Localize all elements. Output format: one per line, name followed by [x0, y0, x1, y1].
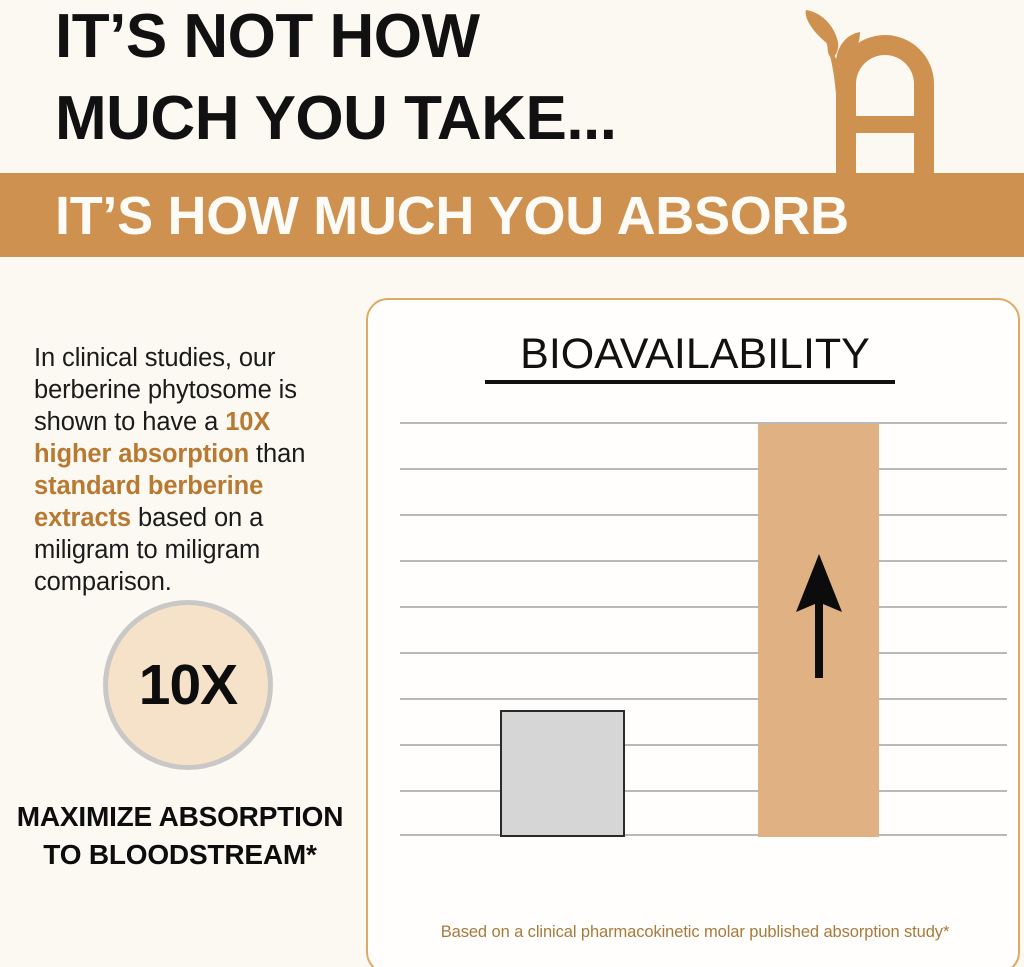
- headline-block: IT’S NOT HOW MUCH YOU TAKE...: [55, 0, 775, 160]
- multiplier-badge: 10X: [103, 600, 273, 770]
- chart-title-underline: [485, 380, 895, 384]
- intro-paragraph: In clinical studies, our berberine phyto…: [34, 342, 346, 598]
- gridline: [400, 744, 1007, 746]
- leaf-arch-a-logo: [790, 8, 980, 178]
- bar-standard-berberine: [500, 710, 625, 837]
- headline-line-2: MUCH YOU TAKE...: [55, 78, 775, 160]
- gridline: [400, 560, 1007, 562]
- chart-footnote: Based on a clinical pharmacokinetic mola…: [368, 923, 1022, 942]
- gridline: [400, 422, 1007, 424]
- chart-title: BIOAVAILABILITY: [368, 330, 1022, 379]
- accent-band-text: IT’S HOW MUCH YOU ABSORB: [55, 186, 1000, 246]
- gridline: [400, 698, 1007, 700]
- gridline: [400, 606, 1007, 608]
- gridline: [400, 652, 1007, 654]
- left-column: In clinical studies, our berberine phyto…: [0, 270, 360, 967]
- up-arrow-icon: [792, 554, 846, 678]
- chart-baseline: [400, 834, 1007, 836]
- bioavailability-chart-card: BIOAVAILABILITY STANDARD BERBERINE H.A.: [366, 298, 1020, 967]
- multiplier-badge-label: 10X: [139, 657, 237, 714]
- infographic-page: IT’S NOT HOW MUCH YOU TAKE... IT’S HOW M…: [0, 0, 1024, 967]
- gridline: [400, 790, 1007, 792]
- badge-caption: MAXIMIZE ABSORPTION TO BLOODSTREAM*: [0, 798, 360, 874]
- headline-line-1: IT’S NOT HOW: [55, 0, 775, 78]
- gridline: [400, 514, 1007, 516]
- intro-text-part-2: than: [249, 440, 305, 468]
- chart-plot-area: STANDARD BERBERINE H.A. BERBERINE PHYTOS…: [400, 422, 1007, 837]
- gridline: [400, 468, 1007, 470]
